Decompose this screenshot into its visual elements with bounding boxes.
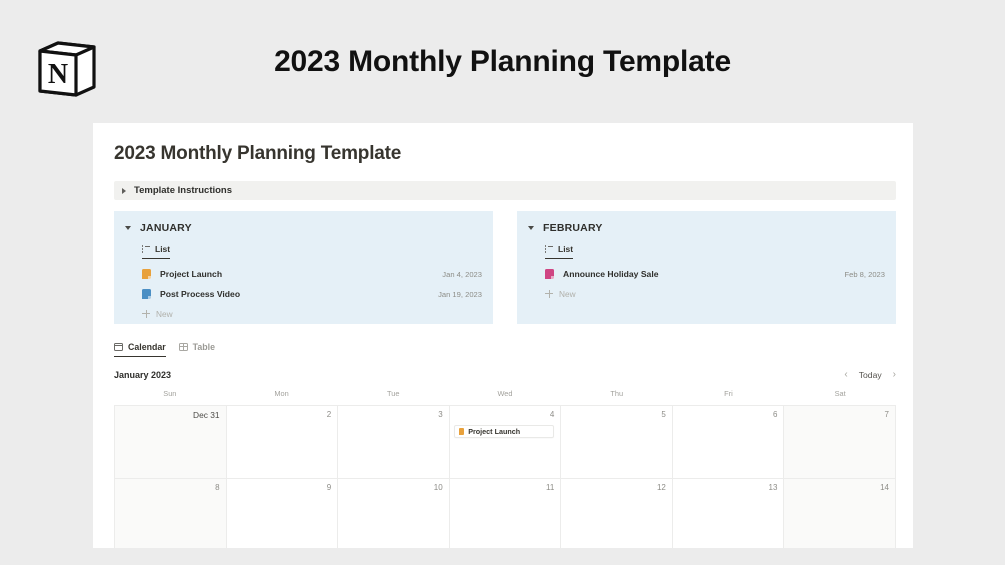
calendar-event-title: Project Launch xyxy=(468,427,520,436)
page-icon xyxy=(142,289,151,299)
chevron-left-icon[interactable]: ‹ xyxy=(844,370,847,380)
day-number: 12 xyxy=(566,483,666,494)
day-number: 8 xyxy=(120,483,220,494)
day-number: 11 xyxy=(455,483,555,494)
triangle-down-icon[interactable] xyxy=(528,226,534,230)
database-view-tabs: Calendar Table xyxy=(114,339,896,357)
calendar-day-cell[interactable]: 4 Project Launch xyxy=(450,406,562,479)
month-panel-february: FEBRUARY List Announce Holiday Sale Feb … xyxy=(517,211,896,324)
calendar-event-chip[interactable]: Project Launch xyxy=(454,425,555,438)
list-item-date: Feb 8, 2023 xyxy=(844,270,885,279)
calendar-day-cell[interactable]: 7 xyxy=(784,406,896,479)
page-icon xyxy=(142,269,151,279)
table-icon xyxy=(179,343,188,351)
calendar-day-cell[interactable]: 13 xyxy=(673,479,785,548)
january-label: JANUARY xyxy=(140,222,192,234)
list-view-icon xyxy=(545,246,553,253)
weekday-header: Fri xyxy=(673,389,785,405)
weekday-header: Thu xyxy=(561,389,673,405)
calendar-day-cell[interactable]: 2 xyxy=(227,406,339,479)
calendar-grid: Dec 31 2 3 4 Project Launch 5 xyxy=(114,405,896,548)
calendar-header: January 2023 ‹ Today › xyxy=(114,368,896,382)
january-view-tabs: List xyxy=(142,244,482,259)
tab-calendar[interactable]: Calendar xyxy=(114,342,166,357)
calendar-day-cell[interactable]: 9 xyxy=(227,479,339,548)
calendar-day-cell[interactable]: 11 xyxy=(450,479,562,548)
tab-calendar-label: Calendar xyxy=(128,342,166,352)
february-tab-list[interactable]: List xyxy=(545,244,573,259)
calendar-day-cell[interactable]: 10 xyxy=(338,479,450,548)
day-number: Dec 31 xyxy=(120,410,220,421)
month-panel-january: JANUARY List Project Launch Jan 4, 2023 xyxy=(114,211,493,324)
calendar-day-cell[interactable]: 6 xyxy=(673,406,785,479)
list-item[interactable]: Project Launch Jan 4, 2023 xyxy=(125,264,482,284)
page-icon xyxy=(545,269,554,279)
january-toggle[interactable]: JANUARY xyxy=(125,221,482,235)
day-number: 7 xyxy=(789,410,889,421)
list-item-title: Post Process Video xyxy=(160,289,438,299)
calendar-icon xyxy=(114,343,123,351)
triangle-right-icon[interactable] xyxy=(122,188,126,194)
day-number: 5 xyxy=(566,410,666,421)
calendar-day-cell[interactable]: 14 xyxy=(784,479,896,548)
february-new-label: New xyxy=(559,289,576,299)
list-item-date: Jan 19, 2023 xyxy=(438,290,482,299)
day-number: 9 xyxy=(232,483,332,494)
calendar-day-cell[interactable]: 3 xyxy=(338,406,450,479)
weekday-header: Sat xyxy=(784,389,896,405)
calendar-day-cell[interactable]: 5 xyxy=(561,406,673,479)
tab-table[interactable]: Table xyxy=(179,342,215,357)
page-title: 2023 Monthly Planning Template xyxy=(114,143,896,165)
january-new-button[interactable]: New xyxy=(125,304,482,323)
january-tab-list[interactable]: List xyxy=(142,244,170,259)
page-icon xyxy=(459,428,465,435)
list-item-date: Jan 4, 2023 xyxy=(442,270,482,279)
day-number: 3 xyxy=(343,410,443,421)
plus-icon xyxy=(142,310,150,318)
day-number: 6 xyxy=(678,410,778,421)
calendar-weekday-row: Sun Mon Tue Wed Thu Fri Sat xyxy=(114,389,896,405)
weekday-header: Wed xyxy=(449,389,561,405)
february-list: Announce Holiday Sale Feb 8, 2023 New xyxy=(528,264,885,303)
january-list: Project Launch Jan 4, 2023 Post Process … xyxy=(125,264,482,323)
day-number: 4 xyxy=(455,410,555,421)
weekday-header: Mon xyxy=(226,389,338,405)
day-number: 14 xyxy=(789,483,889,494)
banner-title: 2023 Monthly Planning Template xyxy=(0,0,1005,123)
weekday-header: Tue xyxy=(337,389,449,405)
calendar-day-cell[interactable]: 12 xyxy=(561,479,673,548)
template-instructions-toggle[interactable]: Template Instructions xyxy=(114,181,896,200)
day-number: 2 xyxy=(232,410,332,421)
month-panels: JANUARY List Project Launch Jan 4, 2023 xyxy=(114,211,896,324)
hero-banner: N 2023 Monthly Planning Template xyxy=(0,0,1005,123)
list-item[interactable]: Announce Holiday Sale Feb 8, 2023 xyxy=(528,264,885,284)
list-item-title: Announce Holiday Sale xyxy=(563,269,844,279)
february-new-button[interactable]: New xyxy=(528,284,885,303)
plus-icon xyxy=(545,290,553,298)
february-toggle[interactable]: FEBRUARY xyxy=(528,221,885,235)
today-button[interactable]: Today xyxy=(859,370,882,380)
template-instructions-label: Template Instructions xyxy=(134,185,232,196)
calendar-week-row: 8 9 10 11 12 13 14 xyxy=(115,479,896,548)
chevron-right-icon[interactable]: › xyxy=(893,370,896,380)
list-item-title: Project Launch xyxy=(160,269,442,279)
february-tab-list-label: List xyxy=(558,244,573,254)
weekday-header: Sun xyxy=(114,389,226,405)
list-view-icon xyxy=(142,246,150,253)
calendar-day-cell[interactable]: Dec 31 xyxy=(115,406,227,479)
calendar-week-row: Dec 31 2 3 4 Project Launch 5 xyxy=(115,406,896,479)
tab-table-label: Table xyxy=(193,342,215,352)
february-view-tabs: List xyxy=(545,244,885,259)
january-new-label: New xyxy=(156,309,173,319)
calendar-day-cell[interactable]: 8 xyxy=(115,479,227,548)
notion-page-card: 2023 Monthly Planning Template Template … xyxy=(93,123,913,548)
day-number: 13 xyxy=(678,483,778,494)
february-label: FEBRUARY xyxy=(543,222,603,234)
day-number: 10 xyxy=(343,483,443,494)
calendar-month-label: January 2023 xyxy=(114,370,171,380)
triangle-down-icon[interactable] xyxy=(125,226,131,230)
january-tab-list-label: List xyxy=(155,244,170,254)
list-item[interactable]: Post Process Video Jan 19, 2023 xyxy=(125,284,482,304)
calendar-nav: ‹ Today › xyxy=(844,370,896,380)
